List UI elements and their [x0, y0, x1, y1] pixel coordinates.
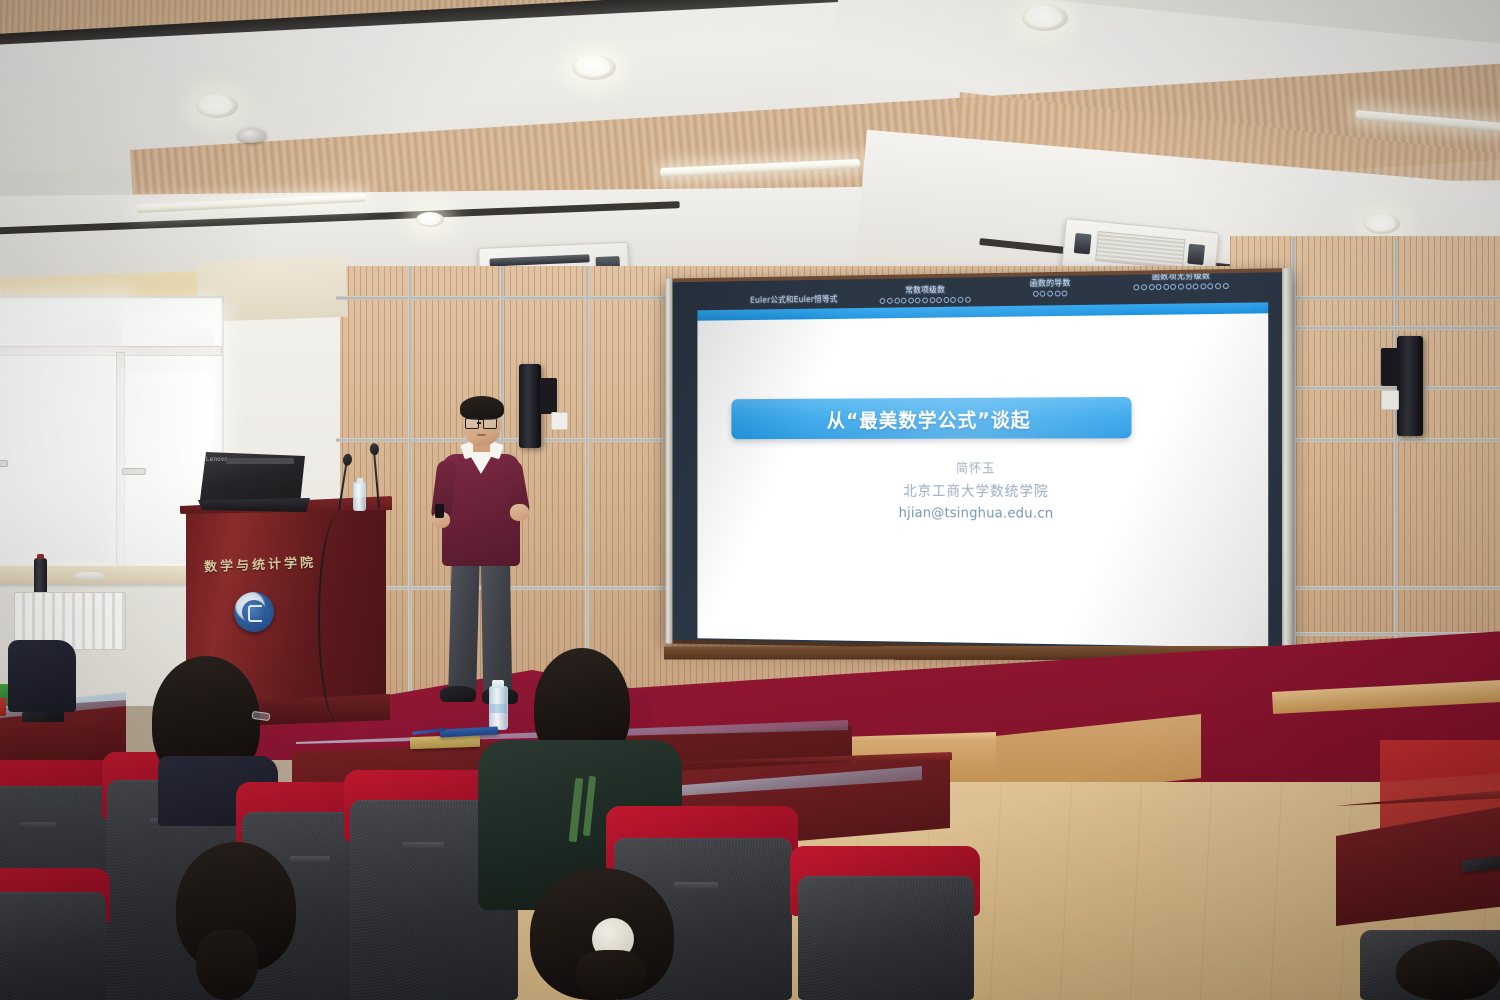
slide-email: hjian@tsinghua.edu.cn — [697, 505, 1268, 523]
nav-section-1-label: 常数项级数 — [860, 283, 990, 297]
projection-surface: Euler公式和Euler恒等式 常数项级数 函数的导数 函数项无穷级数 — [673, 272, 1283, 650]
podium-water-bottle — [353, 482, 366, 511]
screen-frame-right — [1282, 268, 1292, 654]
window-handle[interactable] — [122, 468, 146, 475]
presenter-glasses-icon — [465, 418, 499, 428]
slide-author-block: 简怀玉 北京工商大学数统学院 hjian@tsinghua.edu.cn — [697, 458, 1268, 523]
slide-canvas: 从“最美数学公式”谈起 简怀玉 北京工商大学数统学院 hjian@tsinghu… — [697, 302, 1268, 647]
window-pane-left — [0, 356, 116, 562]
seat-8[interactable] — [0, 868, 110, 1000]
downlight-1 — [196, 94, 238, 118]
slide-title-box: 从“最美数学公式”谈起 — [731, 397, 1131, 439]
presenter-hand-right — [510, 504, 529, 521]
window-mullion-h — [0, 346, 222, 356]
nav-section-2-dots — [989, 290, 1113, 298]
wall-trim-h4 — [1296, 326, 1500, 330]
presenter-leg-left — [448, 554, 480, 695]
wall-speaker-left-plate — [551, 412, 568, 430]
coat-on-chair — [8, 640, 76, 712]
projection-screen-housing: Euler公式和Euler恒等式 常数项级数 函数的导数 函数项无穷级数 — [665, 268, 1292, 654]
university-emblem-icon — [234, 592, 274, 632]
wall-trim-v3 — [585, 266, 589, 706]
sill-dish — [74, 572, 104, 580]
wall-trim-v1 — [408, 266, 412, 706]
downlight-4 — [1364, 214, 1400, 234]
screen-frame-left — [665, 278, 672, 643]
downlight-3 — [1022, 5, 1068, 31]
nav-section-2[interactable]: 函数的导数 — [989, 276, 1113, 298]
nav-section-3[interactable]: 函数项无穷级数 — [1108, 272, 1254, 291]
laptop-brand-label: Lenovo — [206, 457, 228, 463]
downlight-5 — [416, 212, 444, 227]
wall-speaker-right-bracket — [1381, 348, 1399, 386]
desk-phone[interactable] — [22, 712, 64, 722]
nav-section-3-dots — [1108, 283, 1254, 291]
presenter-hair — [460, 396, 504, 420]
presenter-leg-right — [481, 554, 512, 696]
nav-section-2-label: 函数的导数 — [989, 276, 1113, 290]
window-handle-left[interactable] — [0, 460, 8, 467]
nav-section-3-label: 函数项无穷级数 — [1108, 272, 1254, 283]
presenter-clicker — [435, 504, 444, 518]
seat-6[interactable] — [790, 846, 980, 1000]
slide-affiliation: 北京工商大学数统学院 — [697, 480, 1268, 502]
nav-section-1[interactable]: 常数项级数 — [860, 283, 990, 304]
presenter-shoe-left — [440, 686, 476, 702]
slide-author-name: 简怀玉 — [697, 458, 1268, 477]
smoke-detector-icon — [238, 128, 266, 143]
slide-title: 从“最美数学公式”谈起 — [827, 404, 1031, 433]
nav-section-0-label: Euler公式和Euler恒等式 — [726, 293, 862, 306]
downlight-2 — [572, 55, 616, 80]
lecture-hall-photo: Euler公式和Euler恒等式 常数项级数 函数的导数 函数项无穷级数 — [0, 0, 1500, 1000]
desk-red-item — [0, 698, 6, 716]
window-transom-left — [0, 302, 122, 348]
podium-laptop[interactable]: Lenovo — [200, 452, 305, 504]
podium-cable — [318, 514, 360, 724]
wall-speaker-right — [1397, 336, 1423, 436]
wall-speaker-right-plate — [1381, 390, 1399, 410]
nav-section-1-dots — [860, 296, 990, 304]
window-mullion-v — [116, 352, 125, 572]
presenter-mouth — [477, 434, 486, 436]
laptop-keyboard-base[interactable] — [198, 498, 310, 512]
presenter — [432, 394, 552, 724]
laptop-lid-bar — [226, 458, 294, 464]
nav-section-0[interactable]: Euler公式和Euler恒等式 — [726, 293, 862, 308]
stage-water-bottle — [489, 686, 508, 730]
